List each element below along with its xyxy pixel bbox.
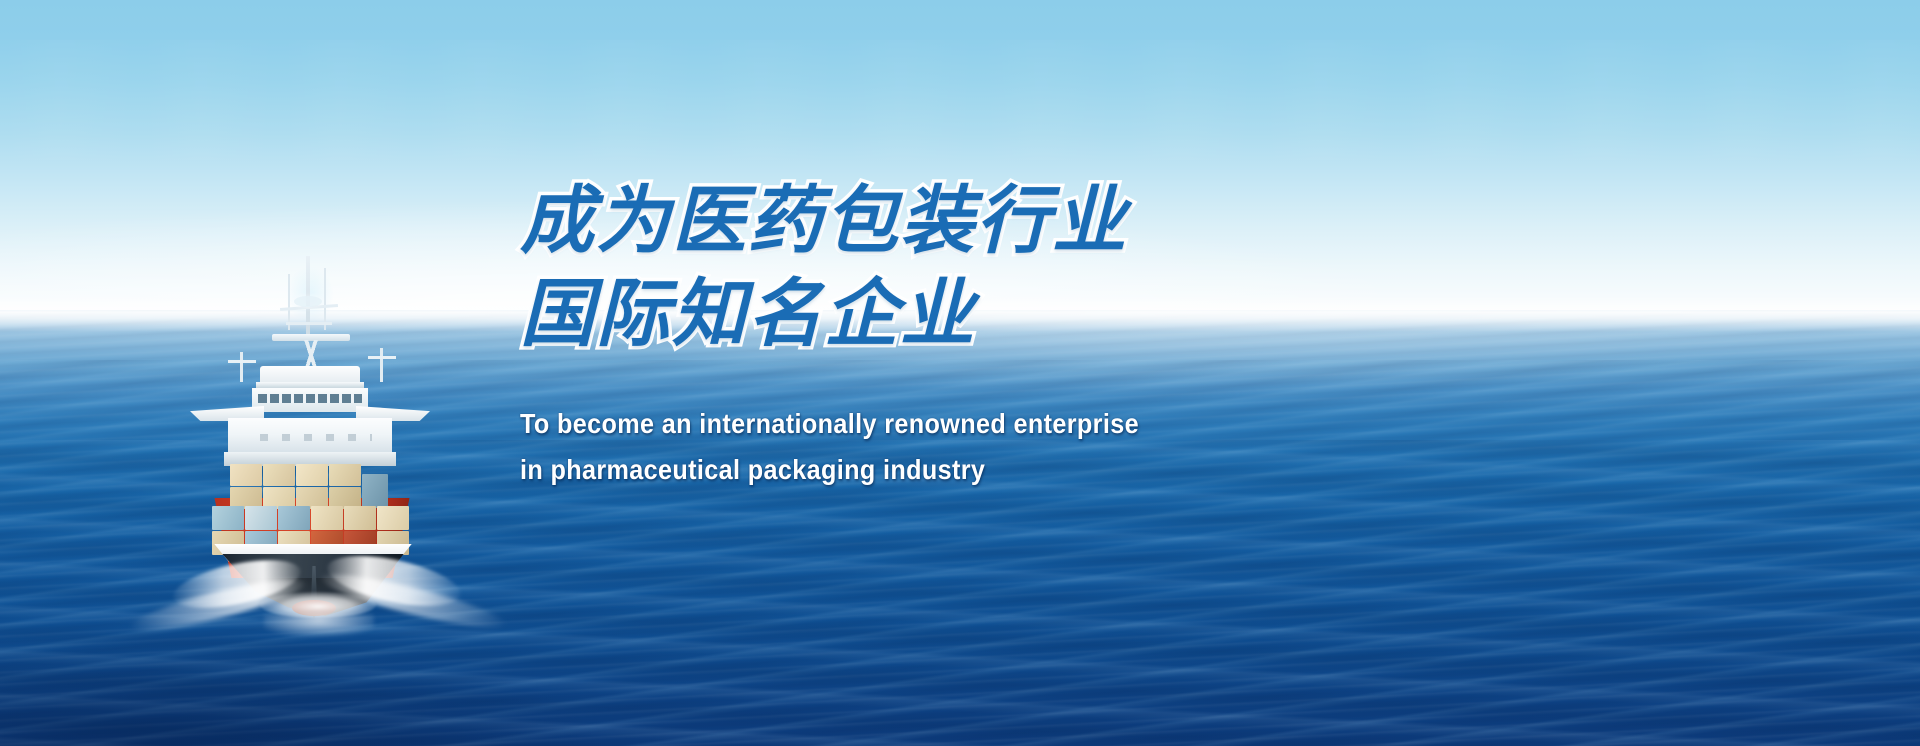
starboard-signal-yard bbox=[368, 356, 396, 359]
antenna-right-icon bbox=[324, 268, 326, 330]
port-signal-yard bbox=[228, 360, 256, 363]
headline-line-2: 国际知名企业 bbox=[520, 271, 1500, 358]
mast-crossbar-lower bbox=[286, 322, 332, 325]
container bbox=[344, 506, 376, 530]
radar-dish-icon bbox=[294, 296, 322, 307]
container bbox=[245, 506, 277, 530]
radar-glow bbox=[286, 266, 334, 324]
starboard-signal-mast bbox=[380, 348, 383, 382]
subheadline-line-1: To become an internationally renowned en… bbox=[520, 401, 1402, 446]
container-stack-upper bbox=[230, 464, 388, 510]
sky-cloud-streaks bbox=[0, 40, 1920, 160]
container bbox=[329, 464, 361, 486]
headline-line-1: 成为医药包装行业 bbox=[520, 178, 1500, 265]
subheadline-line-2: in pharmaceutical packaging industry bbox=[520, 447, 1402, 492]
container bbox=[296, 464, 328, 486]
banner-copy: 成为医药包装行业 国际知名企业 To become an internation… bbox=[520, 178, 1500, 492]
subheadline: To become an internationally renowned en… bbox=[520, 401, 1500, 492]
container bbox=[263, 464, 295, 486]
container bbox=[362, 474, 388, 508]
mast-support-legs bbox=[276, 340, 346, 368]
bridge-windows bbox=[258, 394, 362, 403]
container bbox=[230, 464, 262, 486]
container bbox=[311, 506, 343, 530]
container bbox=[377, 506, 409, 530]
hero-banner: 成为医药包装行业 国际知名企业 To become an internation… bbox=[0, 0, 1920, 746]
port-signal-mast bbox=[240, 352, 243, 382]
wake-trail bbox=[264, 614, 374, 636]
container bbox=[212, 506, 244, 530]
headline: 成为医药包装行业 国际知名企业 bbox=[520, 178, 1500, 357]
deckhouse-portholes bbox=[246, 434, 372, 441]
container bbox=[278, 506, 310, 530]
container-ship bbox=[168, 248, 468, 588]
